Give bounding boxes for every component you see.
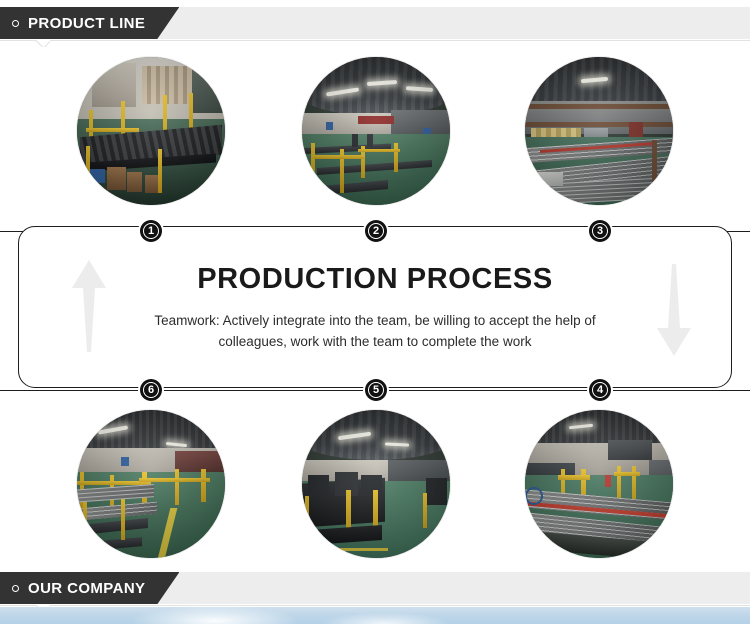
photo-aluminium-profile-storage[interactable] [525,57,673,205]
ring-bullet-icon [12,585,19,592]
section-title-our-company: OUR COMPANY [28,580,145,597]
step-badge-3[interactable]: 3 [589,220,611,242]
section-tab-product-line: PRODUCT LINE [0,7,179,39]
production-process-description: Teamwork: Actively integrate into the te… [125,310,625,352]
step-badge-6[interactable]: 6 [140,379,162,401]
step-badge-2[interactable]: 2 [365,220,387,242]
section-header-product-line: PRODUCT LINE [0,7,750,39]
step-badge-4[interactable]: 4 [589,379,611,401]
photo-green-floor-racking[interactable] [77,410,225,558]
production-process-title: PRODUCTION PROCESS [0,263,750,296]
section-header-our-company: OUR COMPANY [0,572,750,604]
company-banner-sky-image [0,607,750,624]
production-process-panel [18,226,732,388]
step-badge-1[interactable]: 1 [140,220,162,242]
header-divider-our-company [0,605,750,606]
header-notch-product-line [36,40,50,47]
photo-profile-assembly-tables[interactable] [77,57,225,205]
photo-extrusion-conveyor[interactable] [525,410,673,558]
photo-black-machinery-line[interactable] [302,410,450,558]
header-divider-product-line [0,40,750,41]
section-title-product-line: PRODUCT LINE [28,15,145,32]
ring-bullet-icon [12,20,19,27]
section-tab-our-company: OUR COMPANY [0,572,179,604]
step-badge-5[interactable]: 5 [365,379,387,401]
photo-workshop-overview[interactable] [302,57,450,205]
